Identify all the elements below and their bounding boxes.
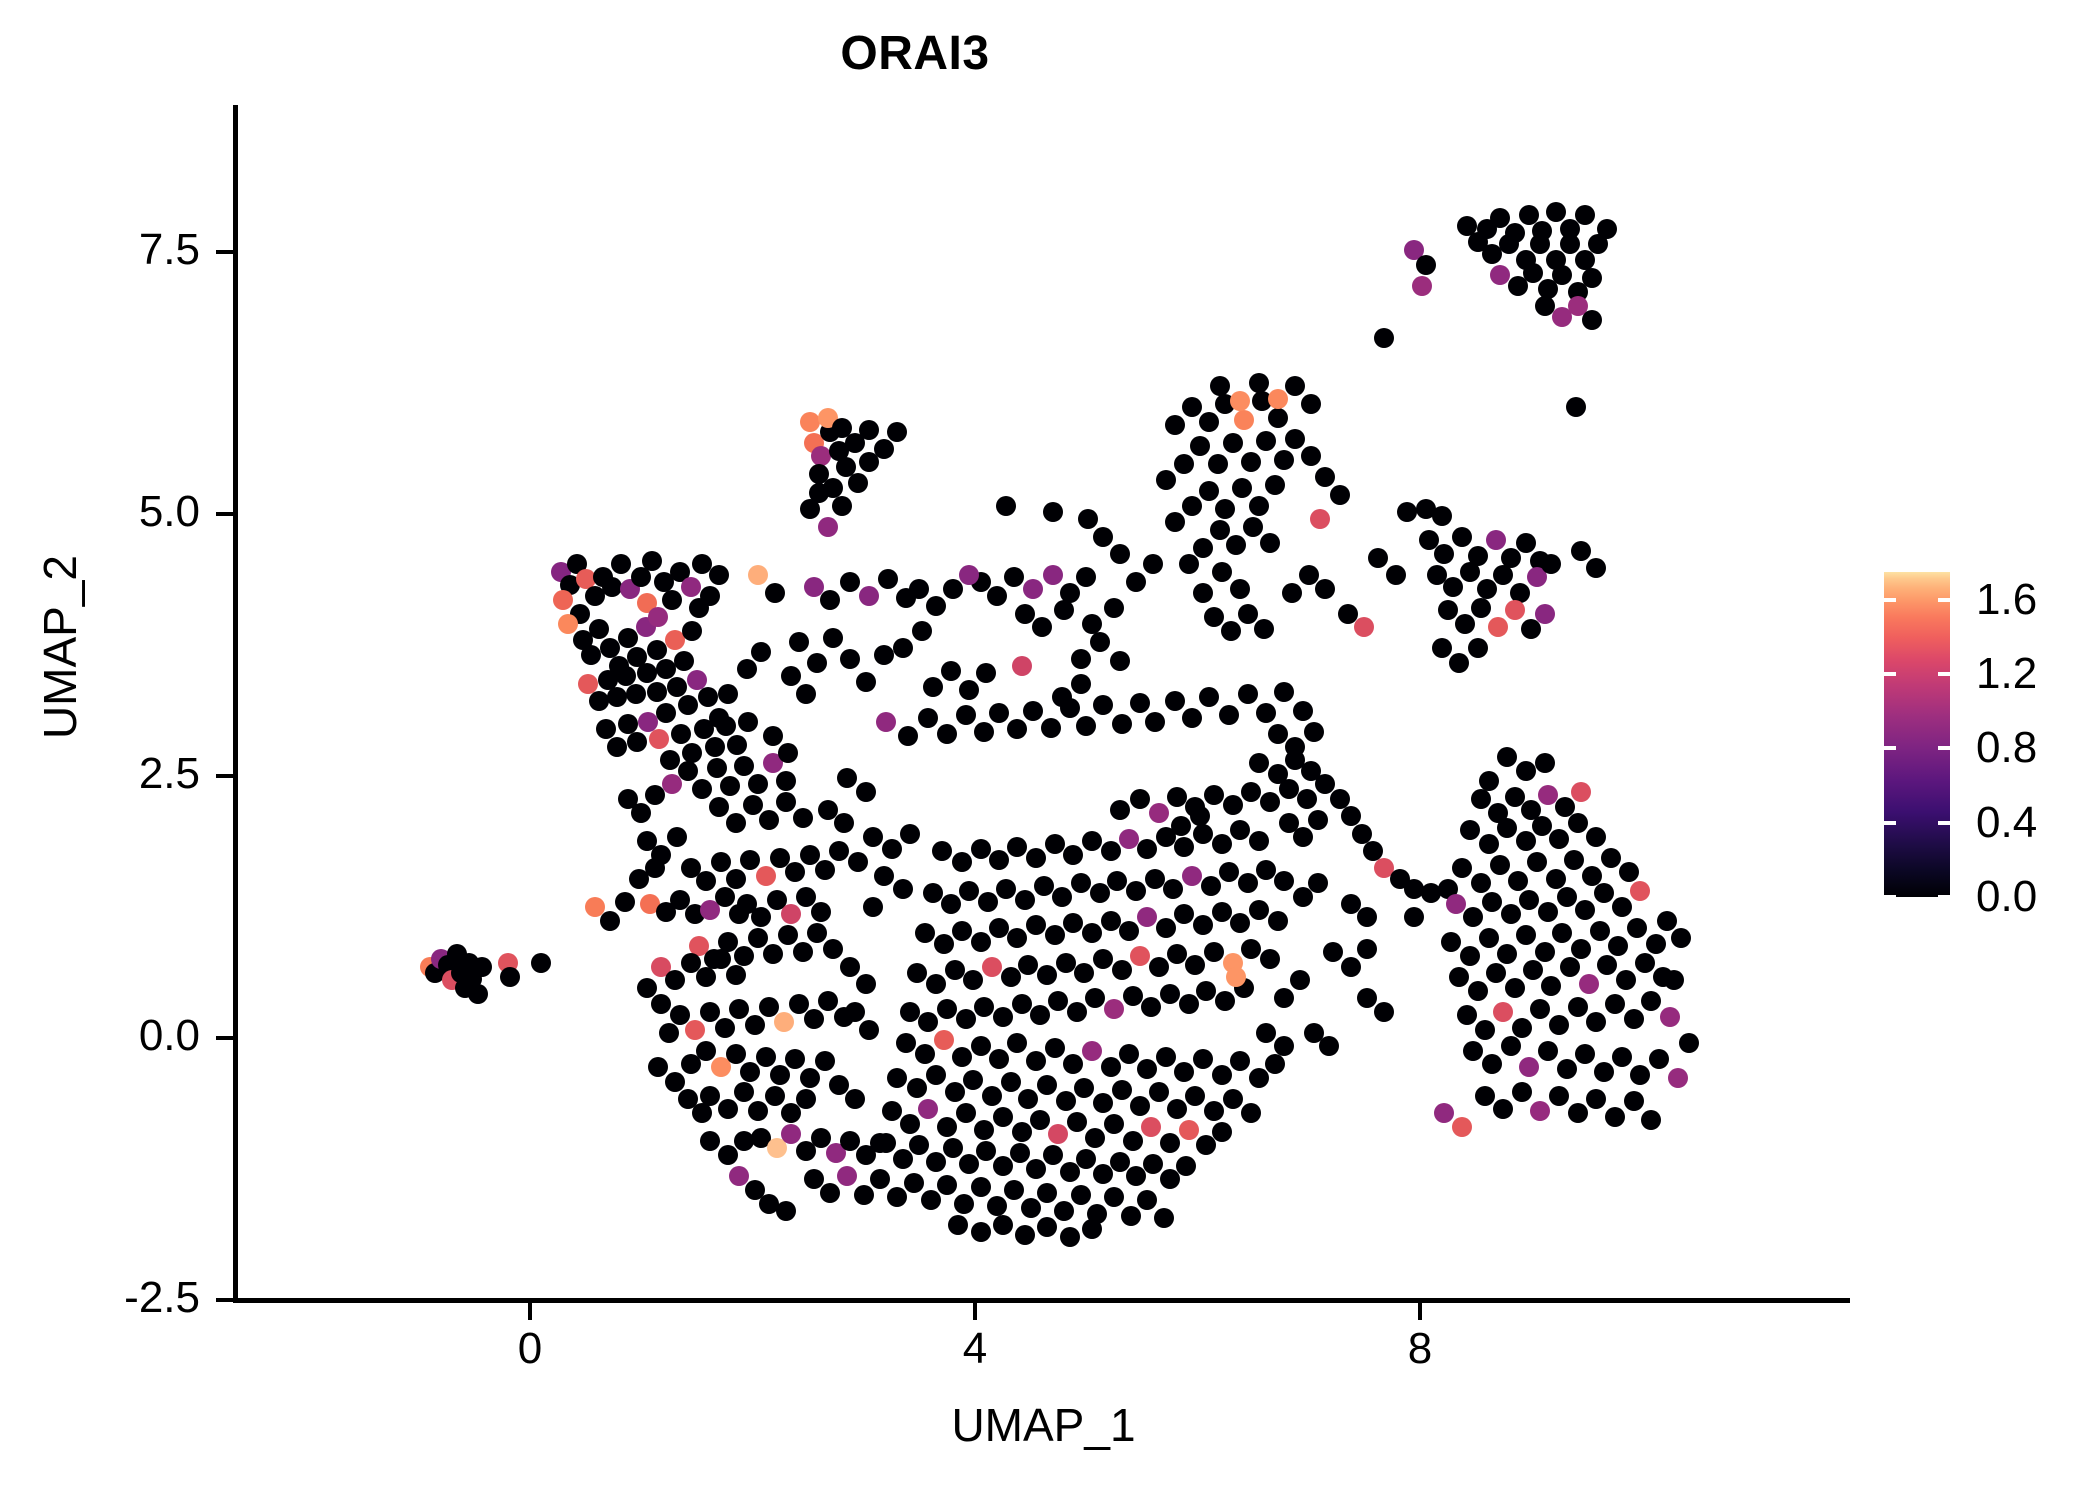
scatter-point (1594, 1062, 1614, 1082)
scatter-point (915, 923, 935, 943)
scatter-point (1110, 1152, 1130, 1172)
scatter-point (1223, 1089, 1243, 1109)
scatter-point (900, 1002, 920, 1022)
scatter-point (678, 695, 698, 715)
scatter-point (952, 852, 972, 872)
scatter-point (1612, 897, 1632, 917)
scatter-point (656, 703, 676, 723)
scatter-point (1193, 583, 1213, 603)
scatter-point (1586, 558, 1606, 578)
scatter-point (876, 712, 896, 732)
scatter-point (743, 795, 763, 815)
x-axis-line (233, 1298, 1850, 1303)
scatter-point (729, 999, 749, 1019)
scatter-point (1104, 598, 1124, 618)
scatter-point (1285, 737, 1305, 757)
scatter-point (1212, 562, 1232, 582)
scatter-point (1497, 944, 1517, 964)
y-tick-label: 0.0 (0, 1011, 200, 1061)
scatter-point (937, 724, 957, 744)
colorbar-tick-mark (1884, 672, 1896, 676)
scatter-point (1112, 714, 1132, 734)
scatter-point (615, 892, 635, 912)
scatter-point (954, 1194, 974, 1214)
scatter-point (974, 997, 994, 1017)
scatter-point (934, 1030, 954, 1050)
scatter-point (607, 687, 627, 707)
scatter-point (662, 590, 682, 610)
scatter-point (1597, 219, 1617, 239)
scatter-point (909, 579, 929, 599)
scatter-point (1012, 994, 1032, 1014)
scatter-point (959, 680, 979, 700)
scatter-point (818, 517, 838, 537)
scatter-point (796, 684, 816, 704)
scatter-point (1505, 978, 1525, 998)
scatter-point (1535, 942, 1555, 962)
scatter-point (1590, 921, 1610, 941)
scatter-point (1230, 820, 1250, 840)
scatter-point (1101, 911, 1121, 931)
scatter-point (1619, 862, 1639, 882)
scatter-point (811, 1128, 831, 1148)
y-tick-label: 7.5 (0, 225, 200, 275)
scatter-point (1137, 907, 1157, 927)
scatter-point (1549, 1086, 1569, 1106)
scatter-point (1130, 1096, 1150, 1116)
scatter-point (1505, 600, 1525, 620)
scatter-point (921, 1190, 941, 1210)
scatter-point (1101, 841, 1121, 861)
scatter-point (1149, 957, 1169, 977)
scatter-point (893, 1149, 913, 1169)
scatter-point (1546, 869, 1566, 889)
scatter-point (1171, 816, 1191, 836)
scatter-point (1641, 1110, 1661, 1130)
scatter-point (1256, 860, 1276, 880)
scatter-point (1304, 722, 1324, 742)
scatter-point (959, 1154, 979, 1174)
scatter-point (1274, 988, 1294, 1008)
y-tick-label: 5.0 (0, 487, 200, 537)
scatter-point (915, 1044, 935, 1064)
scatter-point (1319, 1036, 1339, 1056)
scatter-point (943, 1138, 963, 1158)
scatter-point (1037, 1183, 1057, 1203)
scatter-point (1668, 1068, 1688, 1088)
scatter-point (1018, 1089, 1038, 1109)
scatter-point (1260, 533, 1280, 553)
scatter-point (1260, 792, 1280, 812)
scatter-point (648, 1057, 668, 1077)
scatter-point (918, 1099, 938, 1119)
scatter-point (1323, 942, 1343, 962)
scatter-point (709, 797, 729, 817)
scatter-point (1475, 1020, 1495, 1040)
scatter-point (734, 756, 754, 776)
scatter-point (856, 974, 876, 994)
scatter-point (1479, 928, 1499, 948)
scatter-point (1085, 988, 1105, 1008)
scatter-point (1119, 829, 1139, 849)
scatter-point (1608, 936, 1628, 956)
scatter-point (781, 1124, 801, 1144)
scatter-point (659, 1023, 679, 1043)
scatter-point (876, 1133, 896, 1153)
scatter-point (976, 1141, 996, 1161)
scatter-point (971, 1177, 991, 1197)
scatter-point (1516, 761, 1536, 781)
scatter-point (1432, 638, 1452, 658)
scatter-point (974, 1120, 994, 1140)
scatter-point (734, 1131, 754, 1151)
scatter-point (618, 628, 638, 648)
scatter-point (1219, 862, 1239, 882)
scatter-point (1471, 873, 1491, 893)
scatter-point (1452, 858, 1472, 878)
scatter-point (1635, 953, 1655, 973)
scatter-point (1030, 1005, 1050, 1025)
scatter-point (1063, 1054, 1083, 1074)
scatter-point (1560, 234, 1580, 254)
scatter-point (1516, 831, 1536, 851)
scatter-point (1530, 234, 1550, 254)
scatter-point (1238, 873, 1258, 893)
scatter-point (1308, 810, 1328, 830)
scatter-point (751, 642, 771, 662)
scatter-point (638, 712, 658, 732)
scatter-point (1071, 873, 1091, 893)
scatter-point (1123, 1131, 1143, 1151)
scatter-point (834, 813, 854, 833)
scatter-point (1241, 452, 1261, 472)
scatter-point (1460, 946, 1480, 966)
scatter-point (1579, 974, 1599, 994)
scatter-point (1482, 892, 1502, 912)
scatter-point (896, 1033, 916, 1053)
scatter-point (1582, 268, 1602, 288)
scatter-point (715, 1018, 735, 1038)
scatter-point (1090, 632, 1110, 652)
scatter-point (1568, 1103, 1588, 1123)
scatter-point (1149, 1082, 1169, 1102)
scatter-point (558, 614, 578, 634)
scatter-point (553, 590, 573, 610)
colorbar-tick-mark (1938, 598, 1950, 602)
scatter-point (1488, 617, 1508, 637)
scatter-point (811, 902, 831, 922)
scatter-point (1199, 481, 1219, 501)
scatter-plot-panel (237, 105, 1850, 1300)
scatter-point (1210, 376, 1230, 396)
scatter-point (647, 640, 667, 660)
scatter-point (500, 967, 520, 987)
scatter-point (904, 1173, 924, 1193)
scatter-point (1093, 1164, 1113, 1184)
scatter-point (1497, 747, 1517, 767)
scatter-point (1004, 567, 1024, 587)
scatter-point (956, 1009, 976, 1029)
scatter-point (1023, 701, 1043, 721)
scatter-point (1041, 718, 1061, 738)
scatter-point (1141, 997, 1161, 1017)
scatter-point (685, 1020, 705, 1040)
scatter-point (765, 1086, 785, 1106)
scatter-point (1007, 837, 1027, 857)
scatter-point (596, 719, 616, 739)
scatter-point (1219, 705, 1239, 725)
scatter-point (1045, 834, 1065, 854)
scatter-point (1441, 932, 1461, 952)
scatter-point (763, 726, 783, 746)
scatter-point (956, 705, 976, 725)
scatter-point (870, 1169, 890, 1189)
scatter-point (1575, 900, 1595, 920)
scatter-point (1215, 991, 1235, 1011)
scatter-point (738, 712, 758, 732)
scatter-point (734, 1082, 754, 1102)
scatter-point (820, 590, 840, 610)
scatter-point (993, 1215, 1013, 1235)
scatter-point (696, 967, 716, 987)
scatter-point (667, 827, 687, 847)
scatter-point (1254, 619, 1274, 639)
scatter-point (1156, 1047, 1176, 1067)
scatter-point (1546, 202, 1566, 222)
scatter-point (1007, 1033, 1027, 1053)
scatter-point (1538, 1041, 1558, 1061)
scatter-point (823, 939, 843, 959)
scatter-point (1274, 450, 1294, 470)
scatter-point (611, 554, 631, 574)
scatter-point (1290, 970, 1310, 990)
scatter-point (671, 724, 691, 744)
scatter-point (1071, 649, 1091, 669)
scatter-point (1182, 708, 1202, 728)
scatter-point (1193, 538, 1213, 558)
colorbar-tick-mark (1938, 821, 1950, 825)
scatter-point (1119, 1044, 1139, 1064)
scatter-point (923, 677, 943, 697)
scatter-point (1338, 604, 1358, 624)
scatter-point (1082, 923, 1102, 943)
scatter-point (1624, 1009, 1644, 1029)
scatter-point (1048, 1124, 1068, 1144)
scatter-point (737, 659, 757, 679)
scatter-point (1201, 876, 1221, 896)
scatter-point (589, 691, 609, 711)
scatter-point (926, 1065, 946, 1085)
scatter-point (716, 716, 736, 736)
scatter-point (907, 963, 927, 983)
scatter-point (1341, 806, 1361, 826)
scatter-point (918, 1012, 938, 1032)
scatter-point (989, 1049, 1009, 1069)
scatter-point (1126, 572, 1146, 592)
scatter-point (937, 1117, 957, 1137)
scatter-point (1156, 470, 1176, 490)
scatter-point (1121, 1206, 1141, 1226)
scatter-point (1060, 1227, 1080, 1247)
scatter-point (959, 565, 979, 585)
scatter-point (776, 771, 796, 791)
scatter-point (1493, 565, 1513, 585)
scatter-point (726, 965, 746, 985)
scatter-point (1182, 866, 1202, 886)
scatter-point (1204, 785, 1224, 805)
scatter-point (1082, 614, 1102, 634)
scatter-point (1037, 1217, 1057, 1237)
scatter-point (1223, 795, 1243, 815)
scatter-point (1230, 579, 1250, 599)
scatter-point (1260, 949, 1280, 969)
scatter-point (1460, 820, 1480, 840)
scatter-point (993, 1007, 1013, 1027)
scatter-point (1501, 904, 1521, 924)
scatter-point (1315, 467, 1335, 487)
scatter-point (651, 994, 671, 1014)
scatter-point (1657, 911, 1677, 931)
scatter-point (1256, 1023, 1276, 1043)
scatter-point (1112, 960, 1132, 980)
scatter-point (1126, 881, 1146, 901)
scatter-point (1649, 1049, 1669, 1069)
scatter-point (1012, 1122, 1032, 1142)
scatter-point (893, 638, 913, 658)
scatter-point (945, 1082, 965, 1102)
scatter-point (1119, 921, 1139, 941)
scatter-point (1575, 205, 1595, 225)
scatter-point (781, 904, 801, 924)
x-tick-mark (973, 1303, 977, 1320)
scatter-point (993, 1107, 1013, 1127)
scatter-point (711, 852, 731, 872)
scatter-point (692, 779, 712, 799)
scatter-point (1586, 827, 1606, 847)
scatter-point (1455, 614, 1475, 634)
scatter-point (1265, 475, 1285, 495)
scatter-point (1190, 436, 1210, 456)
scatter-point (1493, 1002, 1513, 1022)
scatter-point (1167, 944, 1187, 964)
scatter-point (1499, 234, 1519, 254)
x-tick-label: 4 (915, 1324, 1035, 1374)
scatter-point (789, 632, 809, 652)
scatter-point (1568, 997, 1588, 1017)
scatter-point (1199, 687, 1219, 707)
scatter-point (793, 808, 813, 828)
scatter-point (662, 774, 682, 794)
scatter-point (982, 1086, 1002, 1106)
scatter-point (1541, 554, 1561, 574)
scatter-point (887, 1187, 907, 1207)
scatter-point (1501, 1036, 1521, 1056)
scatter-point (1241, 1103, 1261, 1123)
scatter-point (1586, 1089, 1606, 1109)
scatter-point (1516, 533, 1536, 553)
page-title: ORAI3 (0, 26, 1830, 81)
scatter-point (1018, 955, 1038, 975)
scatter-point (1664, 970, 1684, 990)
scatter-point (1093, 527, 1113, 547)
scatter-point (647, 682, 667, 702)
scatter-point (1490, 855, 1510, 875)
scatter-point (1541, 976, 1561, 996)
scatter-point (982, 957, 1002, 977)
colorbar-tick-label: 0.8 (1976, 723, 2037, 773)
scatter-point (1145, 869, 1165, 889)
scatter-point (1357, 988, 1377, 1008)
scatter-point (756, 1047, 776, 1067)
scatter-point (1154, 1208, 1174, 1228)
scatter-point (727, 735, 747, 755)
scatter-point (815, 860, 835, 880)
scatter-point (660, 750, 680, 770)
scatter-point (649, 729, 669, 749)
scatter-point (718, 684, 738, 704)
scatter-point (781, 1103, 801, 1123)
x-tick-label: 8 (1360, 1324, 1480, 1374)
scatter-point (1374, 1002, 1394, 1022)
scatter-point (804, 1009, 824, 1029)
scatter-point (893, 879, 913, 899)
scatter-point (1230, 913, 1250, 933)
scatter-point (840, 572, 860, 592)
scatter-point (1535, 296, 1555, 316)
colorbar-tick-mark (1884, 821, 1896, 825)
scatter-point (1004, 1180, 1024, 1200)
scatter-point (923, 883, 943, 903)
scatter-point (1204, 607, 1224, 627)
scatter-point (963, 1070, 983, 1090)
scatter-point (1212, 1122, 1232, 1142)
scatter-point (1274, 682, 1294, 702)
x-axis-title: UMAP_1 (237, 1398, 1850, 1452)
scatter-point (1090, 883, 1110, 903)
scatter-point (820, 1183, 840, 1203)
scatter-point (971, 1222, 991, 1242)
scatter-point (1597, 955, 1617, 975)
scatter-point (1137, 1190, 1157, 1210)
scatter-point (1082, 1041, 1102, 1061)
scatter-point (1001, 1072, 1021, 1092)
scatter-point (776, 1201, 796, 1221)
scatter-point (1032, 617, 1052, 637)
scatter-point (759, 810, 779, 830)
scatter-point (1034, 876, 1054, 896)
scatter-point (1010, 1143, 1030, 1163)
scatter-point (689, 598, 709, 618)
scatter-point (1076, 567, 1096, 587)
scatter-point (1368, 548, 1388, 568)
scatter-point (1552, 265, 1572, 285)
scatter-point (607, 737, 627, 757)
scatter-point (874, 866, 894, 886)
scatter-point (1167, 1099, 1187, 1119)
scatter-point (705, 737, 725, 757)
scatter-point (1238, 604, 1258, 624)
scatter-point (996, 879, 1016, 899)
scatter-point (1107, 871, 1127, 891)
scatter-point (934, 934, 954, 954)
scatter-point (1137, 839, 1157, 859)
scatter-point (645, 858, 665, 878)
scatter-point (809, 483, 829, 503)
scatter-point (1646, 934, 1666, 954)
colorbar-tick-mark (1884, 746, 1896, 750)
scatter-point (1101, 1057, 1121, 1077)
scatter-point (863, 897, 883, 917)
